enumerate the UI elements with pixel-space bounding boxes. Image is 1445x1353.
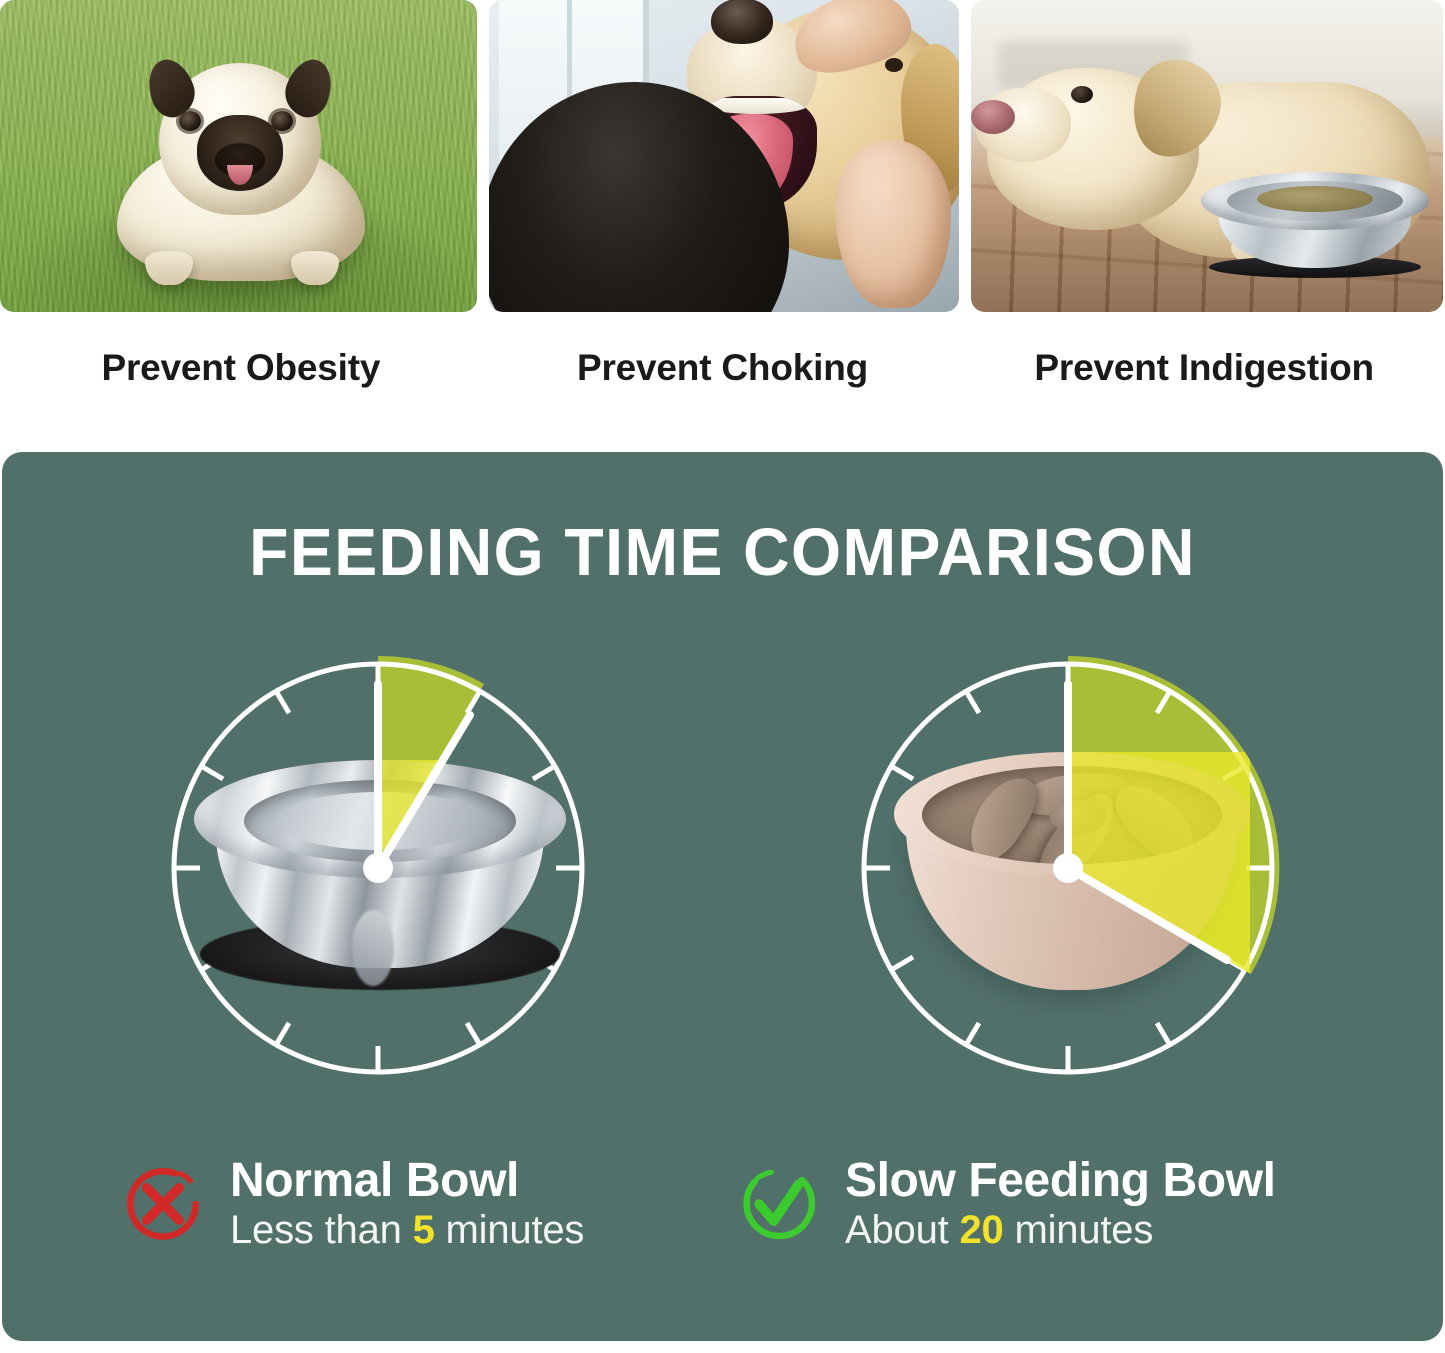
caption-prevent-obesity: Prevent Obesity (0, 326, 482, 410)
wedge-20-minutes (1068, 656, 1279, 974)
sub-number-right: 20 (959, 1208, 1003, 1252)
label-sub-slow-feeding-bowl: About 20 minutes (845, 1207, 1276, 1253)
steel-bowl-photo (1201, 172, 1429, 278)
sub-prefix-left: Less than (230, 1208, 413, 1252)
clock-dials (2, 648, 1443, 1088)
feeding-time-comparison-panel: FEEDING TIME COMPARISON (2, 452, 1443, 1341)
pug-illustration (89, 53, 389, 283)
human-hand (835, 140, 951, 308)
photo-labrador-lying-beside-bowl (971, 0, 1443, 312)
clock-dial-left-back (170, 648, 586, 1076)
clock-dial-right-back (860, 648, 1276, 1076)
label-title-normal-bowl: Normal Bowl (230, 1155, 584, 1207)
photo-overweight-pug-on-grass (0, 0, 477, 312)
panel-title: FEEDING TIME COMPARISON (31, 514, 1414, 591)
label-sub-normal-bowl: Less than 5 minutes (230, 1207, 584, 1253)
sub-suffix-left: minutes (435, 1208, 585, 1252)
benefit-photo-row (0, 0, 1445, 312)
clock-slow-feeding-bowl (860, 648, 1276, 1076)
label-normal-bowl: Normal Bowl Less than 5 minutes (120, 1155, 584, 1253)
sub-number-left: 5 (413, 1208, 435, 1252)
wedge-5-minutes (378, 656, 484, 868)
benefit-caption-row: Prevent Obesity Prevent Choking Prevent … (0, 326, 1445, 410)
comparison-labels: Normal Bowl Less than 5 minutes Slow Fee… (2, 1155, 1443, 1283)
circled-check-icon (735, 1161, 821, 1247)
sub-prefix-right: About (845, 1208, 959, 1252)
circled-x-icon (120, 1161, 206, 1247)
caption-prevent-choking: Prevent Choking (482, 326, 964, 410)
clock-normal-bowl (170, 648, 586, 1076)
sub-suffix-right: minutes (1004, 1208, 1154, 1252)
caption-prevent-indigestion: Prevent Indigestion (963, 326, 1445, 410)
label-slow-feeding-bowl: Slow Feeding Bowl About 20 minutes (735, 1155, 1276, 1253)
label-title-slow-feeding-bowl: Slow Feeding Bowl (845, 1155, 1276, 1207)
photo-person-feeding-golden-retriever (489, 0, 959, 312)
